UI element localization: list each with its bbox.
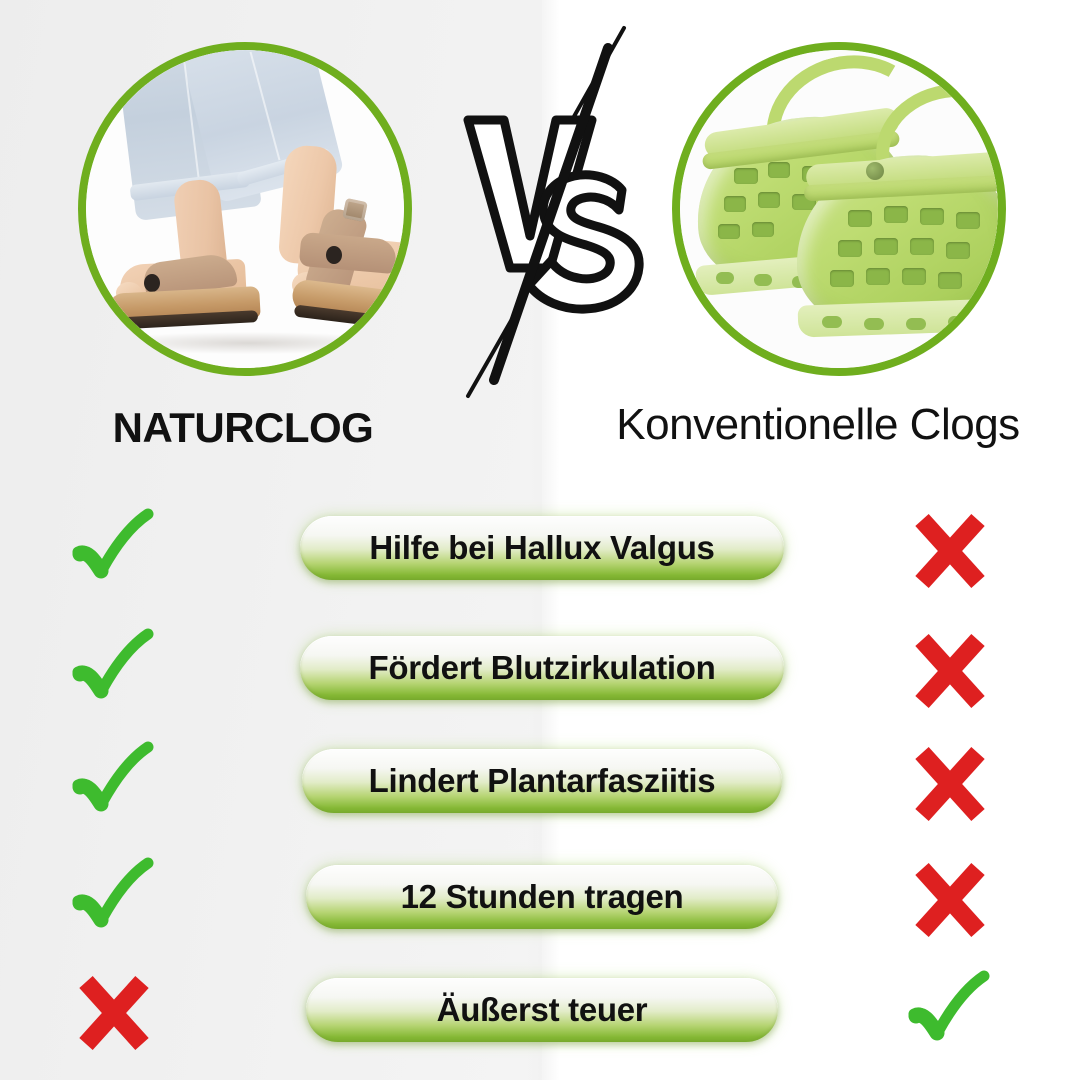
naturclog-sandal-photo [86, 50, 404, 368]
feature-label: 12 Stunden tragen [371, 878, 714, 916]
red-cross-icon [898, 741, 1002, 827]
green-check-icon [62, 628, 166, 714]
feature-pill: 12 Stunden tragen [306, 865, 778, 929]
feature-label: Hilfe bei Hallux Valgus [339, 529, 744, 567]
red-cross-icon [898, 857, 1002, 943]
feature-row: Äußerst teuer [0, 970, 1080, 1056]
product-photo-left [78, 42, 412, 376]
green-check-icon [62, 857, 166, 943]
feature-pill: Lindert Plantarfasziitis [302, 749, 782, 813]
red-cross-icon [898, 628, 1002, 714]
green-check-icon [62, 508, 166, 594]
conventional-clogs-photo [680, 50, 998, 368]
feature-pill: Hilfe bei Hallux Valgus [300, 516, 784, 580]
feature-pill: Fördert Blutzirkulation [300, 636, 784, 700]
feature-label: Äußerst teuer [407, 991, 678, 1029]
feature-row: Fördert Blutzirkulation [0, 628, 1080, 714]
feature-label: Lindert Plantarfasziitis [339, 762, 746, 800]
green-check-icon [898, 970, 1002, 1056]
feature-pill: Äußerst teuer [306, 978, 778, 1042]
feature-row: Hilfe bei Hallux Valgus [0, 508, 1080, 594]
page-title-right: Konventionelle Clogs [556, 400, 1080, 450]
page-title-left: NATURCLOG [0, 404, 486, 452]
red-cross-icon [898, 508, 1002, 594]
feature-row: 12 Stunden tragen [0, 857, 1080, 943]
versus-badge-icon [446, 24, 656, 404]
product-photo-right [672, 42, 1006, 376]
feature-label: Fördert Blutzirkulation [339, 649, 746, 687]
green-check-icon [62, 741, 166, 827]
comparison-infographic: NATURCLOG Konventionelle Clogs Hilfe bei… [0, 0, 1080, 1080]
red-cross-icon [62, 970, 166, 1056]
feature-row: Lindert Plantarfasziitis [0, 741, 1080, 827]
